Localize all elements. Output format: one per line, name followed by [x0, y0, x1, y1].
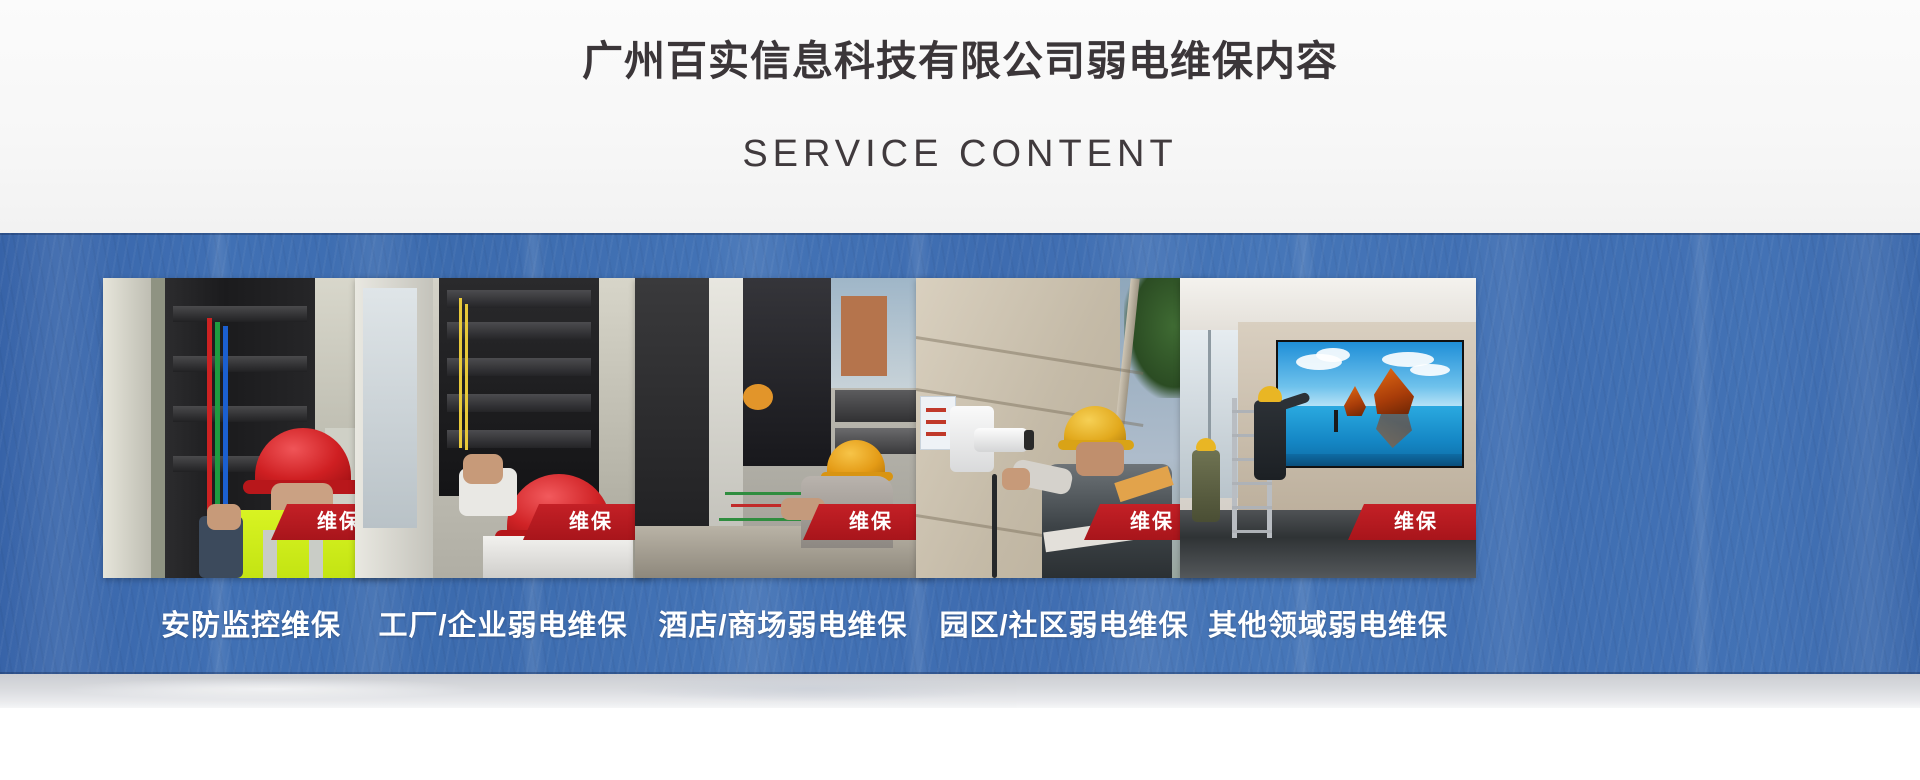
page-subtitle: SERVICE CONTENT [0, 130, 1920, 178]
service-caption: 工厂/企业弱电维保 [355, 602, 651, 644]
service-card[interactable]: 维保 工厂/企业弱电维保 [355, 278, 651, 644]
maintenance-badge: 维保 [1348, 504, 1476, 540]
page-header: 广州百实信息科技有限公司弱电维保内容 SERVICE CONTENT [0, 0, 1920, 233]
service-card[interactable]: 维保 酒店/商场弱电维保 [635, 278, 931, 644]
service-caption: 其他领域弱电维保 [1180, 602, 1476, 644]
service-photo[interactable]: 维保 [355, 278, 651, 578]
maintenance-badge: 维保 [803, 504, 931, 540]
service-photo[interactable]: 维保 [916, 278, 1212, 578]
service-content-banner: 广州百实信息科技有限公司弱电维保内容 SERVICE CONTENT [0, 0, 1920, 780]
service-caption: 园区/社区弱电维保 [916, 602, 1212, 644]
service-photo[interactable]: 维保 [1180, 278, 1476, 578]
maintenance-badge: 维保 [523, 504, 651, 540]
services-card-row: 维保 安防监控维保 [0, 233, 1920, 674]
service-photo[interactable]: 维保 [635, 278, 931, 578]
service-card[interactable]: 维保 其他领域弱电维保 [1180, 278, 1476, 644]
footer-strip [0, 674, 1920, 708]
service-card[interactable]: 维保 园区/社区弱电维保 [916, 278, 1212, 644]
page-title: 广州百实信息科技有限公司弱电维保内容 [0, 34, 1920, 88]
service-caption: 酒店/商场弱电维保 [635, 602, 931, 644]
